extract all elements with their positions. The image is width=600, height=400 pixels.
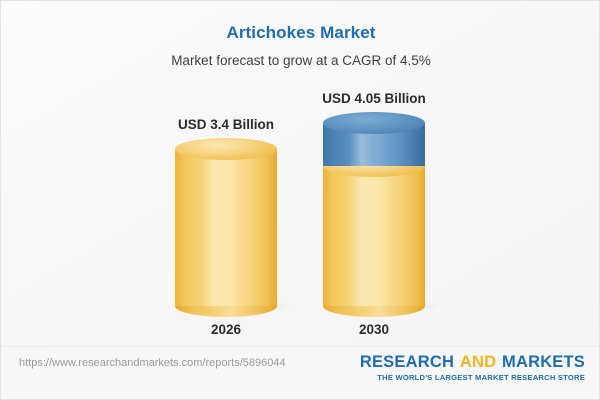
logo-tagline: THE WORLD'S LARGEST MARKET RESEARCH STOR… bbox=[360, 373, 585, 382]
logo-word-markets: MARKETS bbox=[502, 353, 585, 371]
logo-wordmark: RESEARCH AND MARKETS bbox=[360, 354, 585, 371]
segment-body bbox=[175, 149, 277, 306]
bar-cylinder-2030 bbox=[323, 123, 425, 306]
footer: https://www.researchandmarkets.com/repor… bbox=[1, 346, 600, 399]
category-label-2030: 2030 bbox=[293, 322, 455, 337]
segment-top-cap bbox=[323, 112, 425, 134]
logo-word-research: RESEARCH bbox=[360, 353, 454, 371]
chart-plot-area: USD 3.4 Billion 2026 USD 4.05 Billion bbox=[1, 1, 600, 349]
bar-value-label: USD 4.05 Billion bbox=[283, 91, 465, 106]
brand-logo[interactable]: RESEARCH AND MARKETS THE WORLD'S LARGEST… bbox=[360, 354, 585, 382]
bar-cylinder-2026 bbox=[175, 149, 277, 306]
source-url-link[interactable]: https://www.researchandmarkets.com/repor… bbox=[19, 357, 286, 369]
category-label-2026: 2026 bbox=[145, 322, 307, 337]
bar-segment-base bbox=[175, 149, 277, 306]
bar-value-label: USD 3.4 Billion bbox=[135, 117, 317, 132]
segment-body bbox=[323, 166, 425, 306]
bar-segment-growth bbox=[323, 123, 425, 166]
bar-segment-base bbox=[323, 166, 425, 306]
logo-word-and: AND bbox=[459, 353, 497, 371]
chart-card: Artichokes Market Market forecast to gro… bbox=[0, 0, 600, 400]
segment-top-cap bbox=[175, 138, 277, 160]
